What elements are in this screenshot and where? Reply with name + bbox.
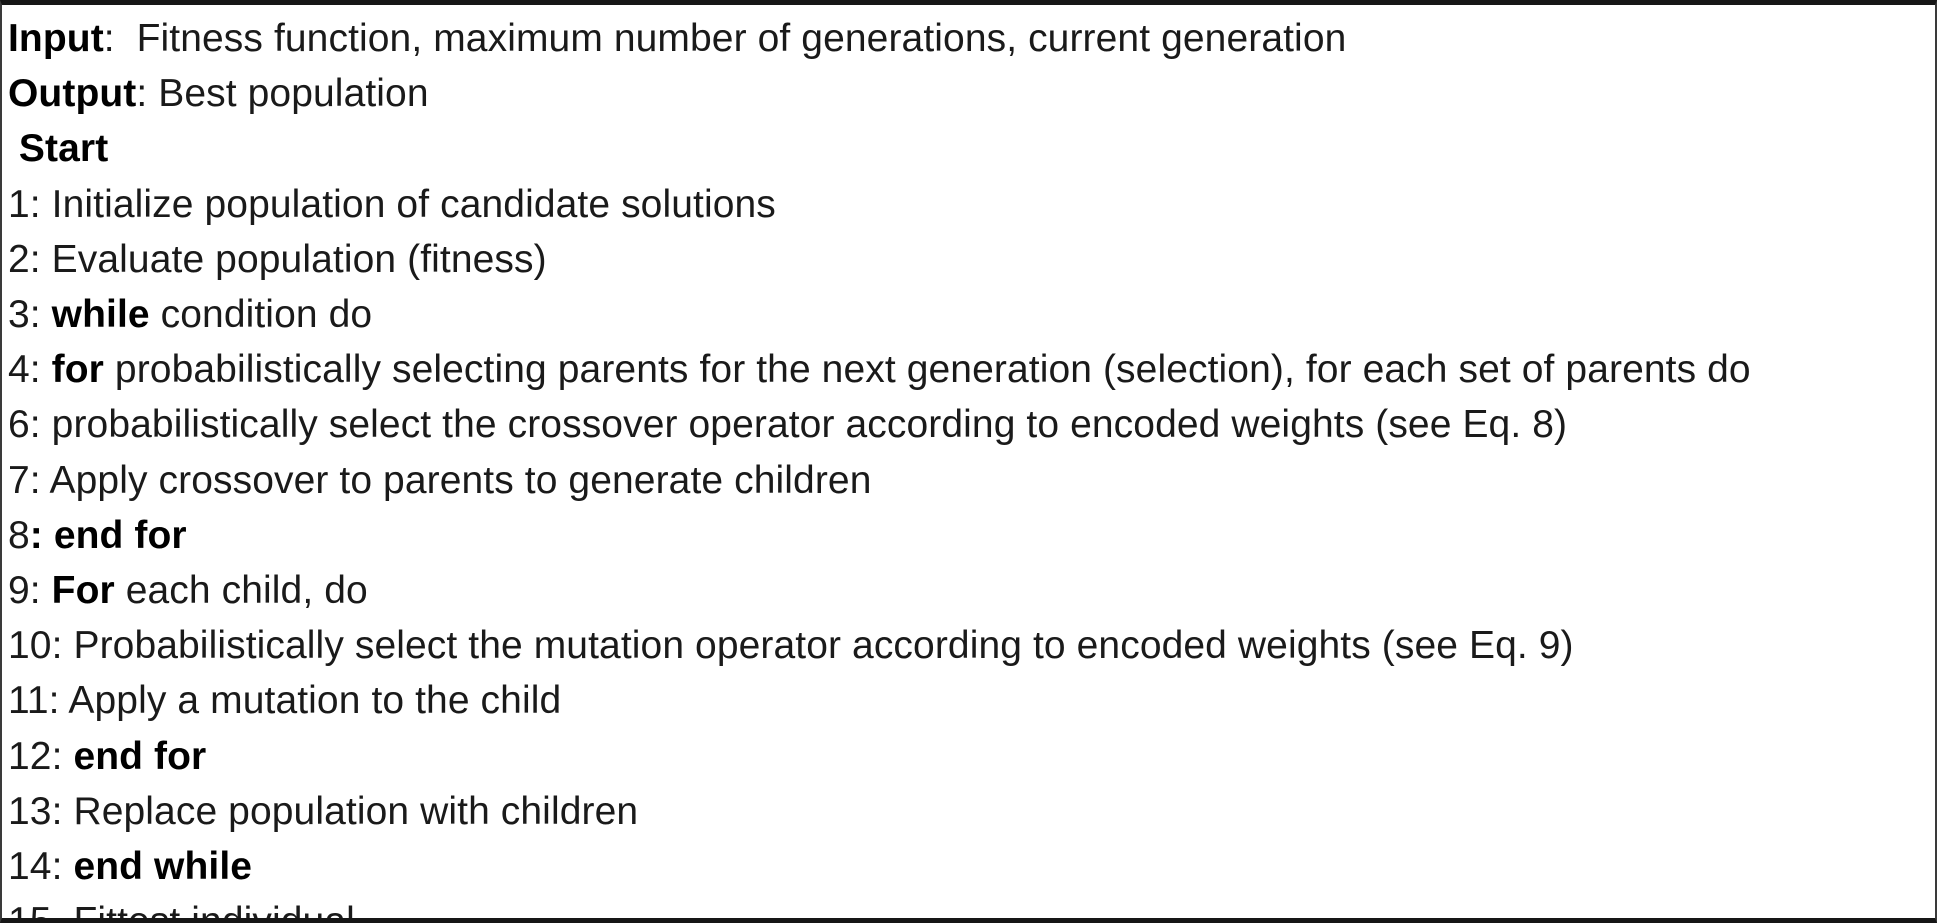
step-number: 15. — [8, 900, 63, 923]
algorithm-start-line: Start — [8, 121, 1935, 176]
step-keyword: while — [41, 293, 150, 336]
input-text: Fitness function, maximum number of gene… — [137, 17, 1347, 60]
output-label: Output — [8, 72, 136, 115]
step-keyword: : end for — [30, 514, 187, 557]
step-number: 8 — [8, 514, 30, 557]
algorithm-output-line: Output: Best population — [8, 66, 1935, 121]
step-number: 14: — [8, 845, 63, 888]
algorithm-step: 9: For each child, do — [8, 563, 1935, 618]
algorithm-step: 12: end for — [8, 729, 1935, 784]
algorithm-step: 14: end while — [8, 839, 1935, 894]
algorithm-pseudocode-block: Input: Fitness function, maximum number … — [0, 0, 1937, 923]
step-text: probabilistically selecting parents for … — [104, 348, 1751, 391]
algorithm-step: 8: end for — [8, 508, 1935, 563]
input-separator: : — [104, 17, 137, 60]
step-number: 13: — [8, 790, 63, 833]
step-number: 10: — [8, 624, 63, 667]
step-text: condition do — [150, 293, 372, 336]
algorithm-step: 13: Replace population with children — [8, 784, 1935, 839]
step-text: Replace population with children — [63, 790, 639, 833]
algorithm-step: 7: Apply crossover to parents to generat… — [8, 453, 1935, 508]
step-number: 11: — [8, 679, 60, 722]
algorithm-input-line: Input: Fitness function, maximum number … — [8, 11, 1935, 66]
input-label: Input — [8, 17, 104, 60]
step-number: 9: — [8, 569, 41, 612]
algorithm-step: 3: while condition do — [8, 287, 1935, 342]
algorithm-step: 1: Initialize population of candidate so… — [8, 177, 1935, 232]
step-text: Apply a mutation to the child — [60, 679, 562, 722]
step-number: 6: — [8, 403, 41, 446]
algorithm-step: 10: Probabilistically select the mutatio… — [8, 618, 1935, 673]
step-text: Fittest individual. — [63, 900, 366, 923]
step-keyword: end for — [63, 735, 207, 778]
step-number: 4: — [8, 348, 41, 391]
step-number: 3: — [8, 293, 41, 336]
step-text: Evaluate population (fitness) — [41, 238, 547, 281]
algorithm-step: 6: probabilistically select the crossove… — [8, 397, 1935, 452]
algorithm-step: 15. Fittest individual. — [8, 894, 1935, 923]
step-number: 12: — [8, 735, 63, 778]
step-text: Probabilistically select the mutation op… — [63, 624, 1574, 667]
step-text: Apply crossover to parents to generate c… — [41, 459, 872, 502]
step-text: each child, do — [115, 569, 368, 612]
step-number: 1: — [8, 183, 41, 226]
step-number: 2: — [8, 238, 41, 281]
algorithm-step: 2: Evaluate population (fitness) — [8, 232, 1935, 287]
algorithm-step: 4: for probabilistically selecting paren… — [8, 342, 1935, 397]
step-text: probabilistically select the crossover o… — [41, 403, 1567, 446]
step-keyword: end while — [63, 845, 253, 888]
algorithm-step: 11: Apply a mutation to the child — [8, 673, 1935, 728]
step-text: Initialize population of candidate solut… — [41, 183, 776, 226]
output-text: Best population — [158, 72, 428, 115]
step-number: 7: — [8, 459, 41, 502]
step-keyword: For — [41, 569, 115, 612]
algorithm-body: Input: Fitness function, maximum number … — [2, 5, 1935, 923]
step-keyword: for — [41, 348, 104, 391]
output-separator: : — [136, 72, 158, 115]
